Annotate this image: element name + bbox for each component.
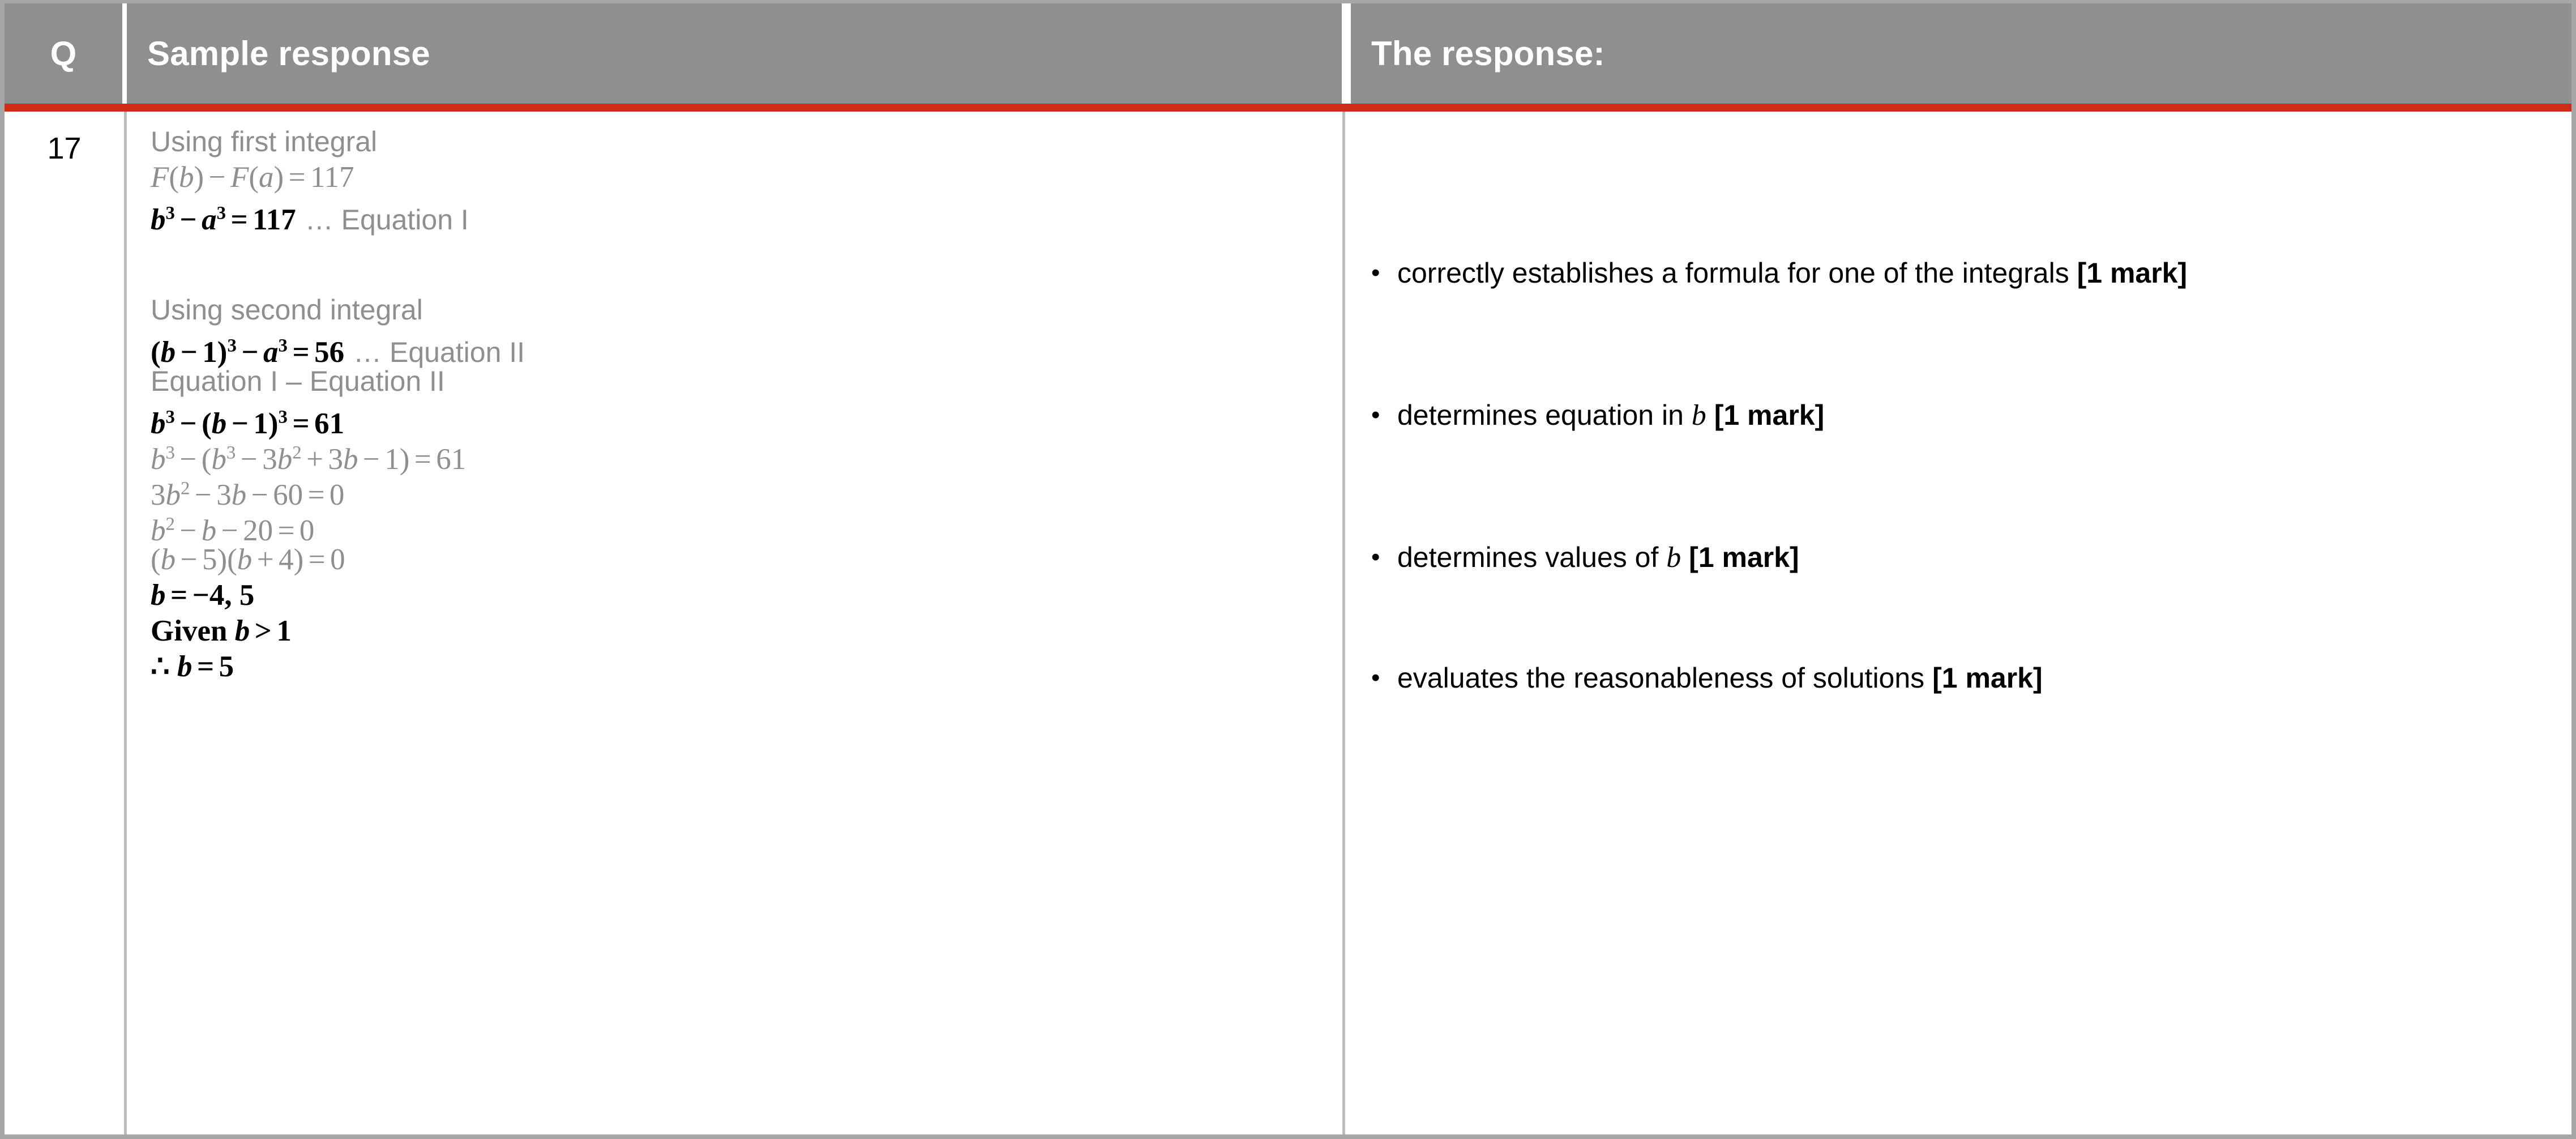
column-header-the-response: The response: [1351,3,2571,104]
header-accent-rule [5,104,2571,112]
bullet-icon: • [1371,662,1397,694]
criterion-description: determines values of [1397,541,1658,573]
solution-line-equation-2: (b−1)3−a3=56… Equation II [151,330,1325,361]
solution-math: b3−(b−1)3=61 [151,407,344,440]
sample-response-cell: Using first integral F(b)−F(a)=117 b3−a3… [127,112,1342,1134]
question-number: 17 [47,131,81,165]
solution-math: 3b2−3b−60=0 [151,479,344,511]
column-header-question: Q [5,3,122,104]
solution-equation-label: … Equation II [353,336,525,368]
solution-math: b=−4, 5 [151,579,254,612]
solution-line-equation-1: b3−a3=117… Equation I [151,198,1325,229]
criterion-mark: [1 mark] [1932,662,2043,694]
criterion-item: • determines equation in b [1 mark] [1371,399,1824,432]
criterion-text: determines equation in b [1 mark] [1397,399,1824,432]
marking-guide-table: Q Sample response The response: 17 Using… [0,0,2576,1139]
criterion-description: correctly establishes a formula for one … [1397,257,2069,289]
solution-equation-label: … Equation I [305,204,469,236]
solution-math: b3−(b3−3b2+3b−1)=61 [151,443,466,476]
response-criteria-cell: • correctly establishes a formula for on… [1345,112,2571,1134]
solution-line-heading-first: Using first integral [151,126,1325,157]
criterion-mark: [1 mark] [2077,257,2188,289]
solution-line-quadratic-3b2: 3b2−3b−60=0 [151,473,1325,504]
solution-line-roots: b=−4, 5 [151,580,1325,611]
question-number-cell: 17 [5,112,124,1134]
column-header-sample-response: Sample response [127,3,1342,104]
criterion-text: determines values of b [1 mark] [1397,541,1799,574]
solution-math: (b−5)(b+4)=0 [151,543,345,576]
solution-line-spacer [151,233,1325,290]
solution-line-given-condition: Given b>1 [151,616,1325,647]
bullet-icon: • [1371,257,1397,289]
solution-line-expanded: b3−(b3−3b2+3b−1)=61 [151,437,1325,468]
solution-math: F(b)−F(a)=117 [151,161,354,194]
solution-math: b2−b−20=0 [151,514,314,547]
bullet-icon: • [1371,399,1397,432]
criteria-list: • correctly establishes a formula for on… [1371,112,2549,1134]
criterion-mark: [1 mark] [1689,541,1799,573]
solution-line-difference-cubes: b3−(b−1)3=61 [151,402,1325,433]
solution-line-F-difference: F(b)−F(a)=117 [151,162,1325,193]
criterion-item: • correctly establishes a formula for on… [1371,257,2187,289]
solution-text: Equation I – Equation II [151,365,445,397]
criterion-variable: b [1692,399,1706,432]
solution-line-subtract-equations: Equation I – Equation II [151,366,1325,397]
solution-math: (b−1)3−a3=56 [151,336,344,369]
criterion-variable: b [1666,541,1681,574]
criterion-text: evaluates the reasonableness of solution… [1397,662,2043,694]
solution-line-factorised: (b−5)(b+4)=0 [151,544,1325,575]
solution-math: b3−a3=117 [151,203,296,236]
table-header-row: Q Sample response The response: [5,3,2571,104]
table-border-left [0,0,5,1139]
solution-line-final-answer: ∴ b=5 [151,651,1325,682]
criterion-item: • determines values of b [1 mark] [1371,541,1799,574]
table-border-right [2571,0,2576,1139]
bullet-icon: • [1371,541,1397,574]
solution-text: Using first integral [151,126,377,157]
solution-line-heading-second: Using second integral [151,295,1325,326]
table-border-bottom [0,1134,2576,1139]
criterion-item: • evaluates the reasonableness of soluti… [1371,662,2043,694]
criterion-description: determines equation in [1397,399,1684,431]
solution-text: Using second integral [151,294,423,326]
criterion-mark: [1 mark] [1714,399,1825,431]
criterion-description: evaluates the reasonableness of solution… [1397,662,1924,694]
solution-math: ∴ b=5 [151,650,234,683]
solution-line-quadratic-simplified: b2−b−20=0 [151,509,1325,540]
solution-math: Given b>1 [151,615,292,647]
criterion-text: correctly establishes a formula for one … [1397,257,2187,289]
